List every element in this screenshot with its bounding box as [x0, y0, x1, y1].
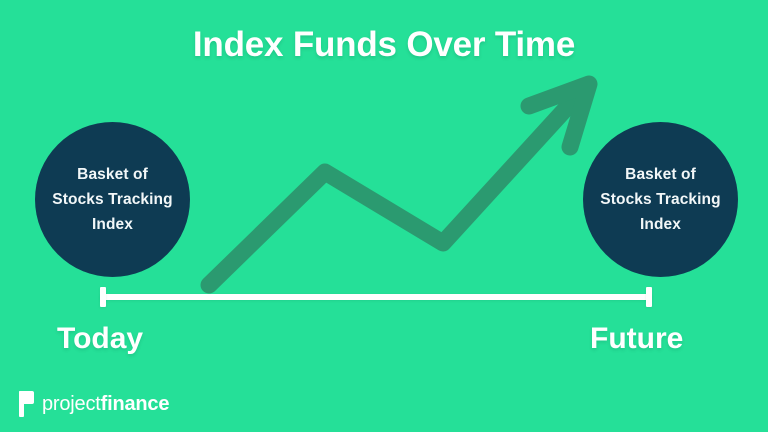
brand-name-bold: finance [101, 393, 170, 415]
timeline-tick-start [100, 287, 106, 307]
brand-logo: projectfinance [19, 390, 169, 418]
node-left-line1: Basket of [77, 166, 148, 183]
timeline-tick-end [646, 287, 652, 307]
node-left-line2: Stocks Tracking [52, 191, 172, 208]
flag-banner [19, 391, 34, 404]
node-left-line3: Index [92, 216, 133, 233]
brand-logo-text: projectfinance [42, 392, 169, 416]
node-circle-right: Basket of Stocks Tracking Index [583, 122, 738, 277]
node-right-line3: Index [640, 216, 681, 233]
timeline-label-future: Future [590, 320, 683, 358]
infographic-canvas: Index Funds Over Time Basket of Stocks T… [0, 0, 768, 432]
timeline-axis [100, 294, 652, 300]
node-right-line1: Basket of [625, 166, 696, 183]
page-title: Index Funds Over Time [0, 24, 768, 66]
node-left-label: Basket of Stocks Tracking Index [49, 162, 177, 237]
node-circle-left: Basket of Stocks Tracking Index [35, 122, 190, 277]
brand-name-light: project [42, 393, 101, 415]
timeline-label-today: Today [57, 320, 143, 358]
flag-icon [19, 391, 37, 417]
node-right-line2: Stocks Tracking [600, 191, 720, 208]
node-right-label: Basket of Stocks Tracking Index [597, 162, 725, 237]
